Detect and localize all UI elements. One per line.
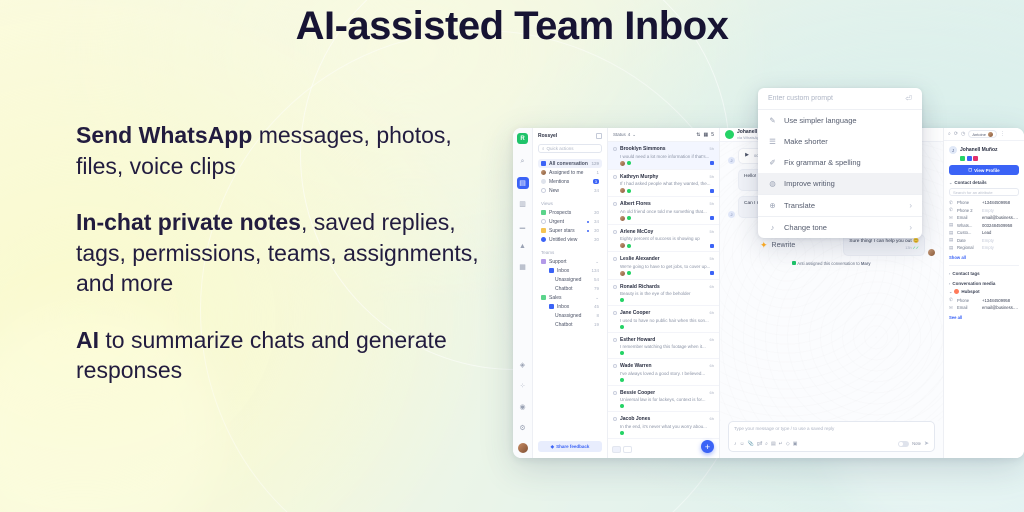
reports-icon[interactable]: ▁: [517, 219, 529, 231]
assigned-icon: [541, 170, 546, 175]
whatsapp-icon: [627, 244, 631, 248]
bot-icon: [792, 261, 796, 265]
calendar-icon: ▤: [949, 237, 954, 243]
sidebar-team-sales-chatbot[interactable]: Chatbot 19: [538, 320, 602, 329]
search-icon: ⌕: [542, 146, 545, 151]
attribute-key: Whats...: [957, 223, 979, 228]
sidebar-item-label: Mentions: [549, 179, 590, 185]
contact-panel: ⌕ ⟳ ◷ Antoine ⋮ J Johanell Muñoz ◻ View …: [944, 128, 1024, 458]
whatsapp-icon: [620, 378, 624, 382]
unread-dot: [587, 221, 589, 223]
conversation-footer: [620, 325, 714, 329]
attribute-key: Email: [957, 215, 979, 220]
contact-details-title[interactable]: ⌄ Contact details: [949, 180, 1019, 185]
enter-key-icon[interactable]: ⏎: [905, 94, 912, 103]
conversation-preview: If I had asked people what they wanted, …: [620, 181, 714, 186]
sidebar-item-count: 34: [594, 219, 599, 224]
contacts-icon[interactable]: ▥: [517, 198, 529, 210]
email-icon: ✉: [949, 305, 954, 311]
ai-menu-item-improve-writing[interactable]: ◍ Improve writing: [758, 173, 922, 194]
select-circle-icon[interactable]: [613, 285, 617, 289]
conversation-preview: We're going to have to get jobs, to cove…: [620, 264, 714, 269]
workspace-logo-icon[interactable]: R: [517, 133, 528, 144]
sidebar-item-label: Chatbot: [555, 286, 591, 292]
message-time: 13h: [905, 246, 911, 250]
sidebar-item-count: 54: [594, 277, 599, 282]
sales-icon: [541, 295, 546, 300]
sidebar-item-label: Untitled view: [549, 237, 591, 243]
conversation-footer: [620, 351, 714, 355]
conversation-preview: An old friend once told me something tha…: [620, 209, 714, 214]
attribute-value: Empty: [982, 208, 1019, 213]
ai-menu-item-fix-grammar-spelling[interactable]: ✐ Fix grammar & spelling: [758, 152, 922, 173]
conversation-item[interactable]: Leslie Alexander 5h We're going to have …: [608, 252, 719, 280]
sidebar-item-count: 79: [594, 286, 599, 291]
rewrite-button[interactable]: ✦ Rewrite: [760, 240, 795, 251]
contact-channel-icons: [960, 156, 1019, 161]
conversation-header: Albert Flores 5h: [613, 201, 714, 207]
file-icon[interactable]: ▤: [771, 441, 776, 447]
conversation-name: Leslie Alexander: [620, 256, 707, 262]
select-circle-icon[interactable]: [613, 417, 617, 421]
search-icon[interactable]: ⌕: [517, 156, 529, 168]
search-reply-icon[interactable]: ⌕: [765, 441, 768, 447]
conversation-header: Ronald Richards 6h: [613, 284, 714, 290]
conversation-item[interactable]: Kathryn Murphy 5h If I had asked people …: [608, 170, 719, 198]
icon-rail: R ⌕ ▤ ▥ ▁ ▲ ▦ ◈ ⁘ ◉ ⚙: [513, 128, 533, 458]
agent-avatar: [928, 249, 935, 256]
sidebar-item-label: Unassigned: [555, 313, 593, 319]
conversation-time: 5h: [710, 146, 714, 151]
quick-actions-input[interactable]: ⌕ Quick actions: [538, 144, 602, 153]
sidebar-team-sales-inbox[interactable]: Inbox 45: [538, 302, 602, 311]
unread-dot: [587, 230, 589, 232]
contact-avatar: [725, 130, 734, 139]
view-icon: [541, 237, 546, 242]
conversation-footer: [620, 188, 714, 193]
conversation-time: 6h: [710, 416, 714, 421]
whatsapp-icon: [620, 404, 624, 408]
whatsapp-icon: [620, 431, 624, 435]
select-circle-icon[interactable]: [613, 175, 617, 179]
select-circle-icon[interactable]: [613, 230, 617, 234]
conversation-name: Esther Howard: [620, 337, 707, 343]
workspace-name: Rossyel: [538, 133, 557, 139]
select-circle-icon[interactable]: [613, 147, 617, 151]
attribute-key: Phone 2: [957, 208, 979, 213]
inbox-icon: [549, 268, 554, 273]
chevron-right-icon: ›: [949, 271, 950, 276]
list-view-controls: [612, 446, 632, 453]
view-profile-label: View Profile: [974, 168, 999, 173]
conversation-footer: [620, 216, 714, 221]
inbox-icon[interactable]: ▤: [517, 177, 529, 189]
ai-menu-item-change-tone[interactable]: ♪ Change tone ›: [758, 217, 922, 238]
inbox-icon: [549, 304, 554, 309]
avatar: J: [728, 211, 735, 218]
feature-paragraph-3: AI to summarize chats and generate respo…: [76, 325, 496, 386]
conversation-name: Wade Warren: [620, 363, 707, 369]
feature-copy: Send WhatsApp messages, photos, files, v…: [76, 120, 496, 412]
conversation-item[interactable]: Ronald Richards 6h Beauty is in the eye …: [608, 280, 719, 307]
ai-menu-item-label: Translate: [784, 201, 815, 210]
sidebar-item-label: Prospects: [549, 210, 591, 216]
ai-menu-item-use-simpler-language[interactable]: ✎ Use simpler language: [758, 110, 922, 131]
note-toggle-label: Note: [912, 441, 921, 446]
conversation-item[interactable]: Esther Howard 6h I remember watching thi…: [608, 333, 719, 360]
sidebar-item-mentions[interactable]: Mentions 3: [538, 177, 602, 186]
custom-prompt-input[interactable]: Enter custom prompt ⏎: [758, 88, 922, 110]
sidebar-team-support-unassigned[interactable]: Unassigned 54: [538, 275, 602, 284]
sidebar-item-label: All conversations: [549, 161, 588, 167]
list-view-icon[interactable]: [623, 446, 632, 453]
contact-tags-section[interactable]: › Contact tags: [949, 271, 1019, 276]
chevron-right-icon: ›: [909, 223, 912, 232]
conversation-preview: Eighty percent of success is showing up: [620, 236, 714, 241]
conversation-time: 5h: [710, 201, 714, 206]
panel-toggle-icon[interactable]: [596, 133, 602, 139]
sidebar-item-count: 1: [596, 170, 599, 175]
feature-bold-1: Send WhatsApp: [76, 122, 252, 148]
ai-menu-item-make-shorter[interactable]: ☰ Make shorter: [758, 131, 922, 152]
ai-menu-item-label: Make shorter: [784, 137, 828, 146]
select-circle-icon[interactable]: [613, 257, 617, 261]
attribute-value: +13484509958: [982, 200, 1019, 205]
quick-actions-placeholder: Quick actions: [547, 146, 574, 151]
sparkle-icon: ✦: [760, 240, 768, 251]
show-all-button[interactable]: Show all: [949, 255, 1019, 260]
message-meta: 13h ✓✓: [849, 246, 919, 252]
gif-icon[interactable]: gif: [757, 441, 762, 447]
contact-attribute-regional[interactable]: ▤ Regional Empty: [949, 244, 1019, 252]
contact-tags-label: Contact tags: [952, 271, 979, 276]
calendar-icon: ▤: [949, 230, 954, 236]
sidebar-item-count: 45: [594, 304, 599, 309]
conversation-item[interactable]: Arlene McCoy 5h Eighty percent of succes…: [608, 225, 719, 253]
system-note-text: Anti assigned this conversation to: [797, 261, 861, 266]
conversation-header: Kathryn Murphy 5h: [613, 174, 714, 180]
conversation-header: Esther Howard 6h: [613, 337, 714, 343]
ai-menu-item-label: Fix grammar & spelling: [784, 158, 861, 167]
whatsapp-icon[interactable]: [960, 156, 965, 161]
avatar: [620, 243, 625, 248]
sidebar-item-count: 8: [596, 313, 599, 318]
lines-icon: ☰: [768, 137, 777, 146]
sidebar-item-count: 19: [594, 322, 599, 327]
conversation-list: Status 4 ⌄ ⇅ ▦ 5 Brooklyn Simmons 5h I w…: [608, 128, 720, 458]
attribute-value: +13484509958: [982, 298, 1019, 303]
contact-attribute-date[interactable]: ▤ Date Empty: [949, 237, 1019, 245]
rewrite-label: Rewrite: [772, 242, 796, 249]
conversation-name: Jane Cooper: [620, 310, 707, 316]
system-note-bold: Mary: [861, 261, 871, 266]
attribute-search-input[interactable]: Search for an attribute: [949, 188, 1019, 196]
unread-badge: [710, 189, 714, 193]
message-text: Sure thing! I can help you out 😊: [849, 239, 919, 244]
conversation-header: Wade Warren 6h: [613, 363, 714, 369]
attribute-key: Phone: [957, 200, 979, 205]
select-circle-icon[interactable]: [613, 202, 617, 206]
mic-icon[interactable]: ♪: [734, 441, 737, 447]
conversation-footer: [620, 271, 714, 276]
conversation-time: 5h: [710, 256, 714, 261]
attribute-value: email@business.com: [982, 215, 1019, 220]
see-all-button[interactable]: See all: [949, 315, 1019, 320]
conversation-footer: [620, 298, 714, 302]
sidebar-item-count: 134: [591, 268, 599, 273]
sidebar-team-support-inbox[interactable]: Inbox 134: [538, 266, 602, 275]
sidebar-team-label: Sales: [549, 295, 592, 301]
sidebar-item-super-stars[interactable]: Super stars 30: [538, 226, 602, 235]
message-composer[interactable]: Type your message or type / to use a sav…: [728, 421, 935, 452]
conversation-preview: I remember watching this footage when it…: [620, 344, 714, 349]
chevron-down-icon: ⌄: [949, 289, 952, 294]
refresh-icon[interactable]: ⟳: [954, 131, 958, 137]
system-note: Anti assigned this conversation to Mary: [728, 261, 935, 266]
sidebar-item-urgent[interactable]: Urgent 34: [538, 217, 602, 226]
ai-menu-item-label: Use simpler language: [784, 116, 857, 125]
sidebar-team-support-chatbot[interactable]: Chatbot 79: [538, 284, 602, 293]
assignee-name: Antoine: [972, 132, 986, 137]
attribute-value: Empty: [982, 238, 1019, 243]
apps-icon[interactable]: ▦: [517, 261, 529, 273]
conversation-item[interactable]: Brooklyn Simmons 5h I would need a lot m…: [608, 142, 719, 170]
views-section-title: Views: [541, 201, 602, 206]
campaigns-icon[interactable]: ▲: [517, 240, 529, 252]
sidebar-item-count: 30: [594, 210, 599, 215]
composer-placeholder: Type your message or type / to use a sav…: [734, 426, 929, 431]
send-icon[interactable]: ➤: [924, 440, 929, 447]
conversation-footer: [620, 431, 714, 435]
attribute-value: Empty: [982, 245, 1019, 250]
search-icon[interactable]: ⌕: [948, 131, 951, 137]
conversation-media-label: Conversation media: [952, 281, 995, 286]
conversation-name: Kathryn Murphy: [620, 174, 707, 180]
custom-prompt-placeholder: Enter custom prompt: [768, 95, 833, 102]
conversation-header: Brooklyn Simmons 5h: [613, 146, 714, 152]
select-circle-icon[interactable]: [613, 364, 617, 368]
more-icon[interactable]: ⋮: [1000, 131, 1005, 137]
select-circle-icon[interactable]: [613, 391, 617, 395]
conversation-name: Brooklyn Simmons: [620, 146, 707, 152]
hubspot-icon: [954, 289, 959, 294]
mentions-icon: [541, 179, 546, 184]
conversation-time: 6h: [710, 284, 714, 289]
share-feedback-button[interactable]: ◆ Share feedback: [538, 441, 602, 452]
attribute-key: Custo...: [957, 230, 979, 235]
status-filter[interactable]: Status 4 ⌄: [613, 132, 636, 138]
phone-icon: ✆: [949, 297, 954, 303]
conversation-preview: I've always loved a good story. I believ…: [620, 371, 714, 376]
sidebar-item-all-conversations[interactable]: All conversations 129: [538, 159, 602, 168]
contact-attribute-phone-2[interactable]: ✆ Phone 2 Empty: [949, 207, 1019, 215]
conversation-footer: [620, 243, 714, 248]
sidebar-item-count: 30: [594, 228, 599, 233]
contact-details-label: Contact details: [954, 180, 986, 185]
sidebar-item-prospects[interactable]: Prospects 30: [538, 208, 602, 217]
assignee-avatar: [988, 132, 993, 137]
conversation-item[interactable]: Bessie Cooper 6h Universal law is for la…: [608, 386, 719, 413]
urgent-icon: [541, 219, 546, 224]
hubspot-section[interactable]: ⌄ Hubspot: [949, 289, 1019, 294]
select-circle-icon[interactable]: [613, 338, 617, 342]
sidebar-item-label: Inbox: [557, 268, 588, 274]
conversation-item[interactable]: Jacob Jones 6h In the end, it's never wh…: [608, 412, 719, 439]
conversation-item[interactable]: Wade Warren 6h I've always loved a good …: [608, 359, 719, 386]
sidebar-team-support[interactable]: Support ⌄: [538, 257, 602, 266]
ai-menu-item-label: Improve writing: [784, 179, 835, 188]
history-icon[interactable]: ◷: [961, 131, 965, 137]
emoji-icon[interactable]: ☺: [740, 441, 745, 447]
ai-prompt-menu: Enter custom prompt ⏎ ✎ Use simpler lang…: [758, 88, 922, 238]
sidebar-item-badge: 3: [593, 179, 599, 184]
saved-reply-icon[interactable]: ↵: [779, 441, 783, 447]
attribute-value: email@business.com: [982, 305, 1019, 310]
sidebar-item-label: Urgent: [549, 219, 584, 225]
view-profile-button[interactable]: ◻ View Profile: [949, 165, 1019, 175]
hubspot-attribute-phone[interactable]: ✆ Phone +13484509958: [949, 297, 1019, 305]
conversation-preview: Universal law is for lackeys, context is…: [620, 397, 714, 402]
calendar-icon: ▤: [949, 222, 954, 228]
avatar: [620, 271, 625, 276]
feature-bold-3: AI: [76, 327, 99, 353]
conversation-preview: In the end, it's never what you worry ab…: [620, 424, 714, 429]
chevron-down-icon: ⌄: [949, 180, 952, 185]
conversation-time: 6h: [710, 363, 714, 368]
music-note-icon: ♪: [768, 223, 777, 232]
messenger-icon[interactable]: [967, 156, 972, 161]
new-icon: [541, 188, 546, 193]
attach-icon[interactable]: 📎: [748, 441, 754, 447]
conversation-preview: I would need a lot more information if t…: [620, 154, 714, 159]
phone-icon: ✆: [949, 207, 954, 213]
conversation-time: 5h: [710, 229, 714, 234]
conversation-footer: [620, 404, 714, 408]
sidebar-item-untitled-view[interactable]: Untitled view 30: [538, 235, 602, 244]
whatsapp-icon: [620, 298, 624, 302]
help-icon[interactable]: ◈: [517, 359, 529, 371]
phone-icon: ✆: [949, 200, 954, 206]
contact-attribute-email[interactable]: ✉ Email email@business.com: [949, 214, 1019, 222]
whatsapp-icon: [627, 161, 631, 165]
feature-bold-2: In-chat private notes: [76, 209, 301, 235]
chevron-down-icon[interactable]: ⌄: [595, 295, 599, 301]
pen-circle-icon: ◍: [768, 179, 777, 188]
conversation-header: Leslie Alexander 5h: [613, 256, 714, 262]
conversation-header: Arlene McCoy 5h: [613, 229, 714, 235]
sidebar-item-count: 129: [591, 161, 599, 166]
whatsapp-icon: [627, 189, 631, 193]
sidebar-team-sales-unassigned[interactable]: Unassigned 8: [538, 311, 602, 320]
user-avatar[interactable]: [518, 443, 528, 453]
magic-wand-icon: ✎: [768, 116, 777, 125]
attribute-key: Phone: [957, 298, 979, 303]
ai-menu-item-label: Change tone: [784, 223, 827, 232]
attribute-key: Email: [957, 305, 979, 310]
chevron-down-icon[interactable]: ⌄: [595, 259, 599, 265]
bug-icon[interactable]: ▦: [703, 132, 708, 138]
page-title: AI-assisted Team Inbox: [0, 4, 1024, 49]
assignee-pill[interactable]: Antoine: [968, 130, 997, 138]
instagram-icon[interactable]: [973, 156, 978, 161]
tag-icon[interactable]: ◇: [786, 441, 790, 447]
play-icon[interactable]: ▶: [744, 153, 750, 159]
sort-icon[interactable]: ⇅: [696, 132, 700, 138]
conversation-footer: [620, 378, 714, 382]
conversation-time: 6h: [710, 310, 714, 315]
contact-attribute-customer[interactable]: ▤ Custo... Lead: [949, 229, 1019, 237]
read-tick-icon: ✓✓: [913, 246, 919, 250]
email-icon: ✉: [949, 215, 954, 221]
sidebar-item-count: 30: [594, 237, 599, 242]
globe-icon: ⊕: [768, 201, 777, 210]
sidebar-item-label: Chatbot: [555, 322, 591, 328]
settings-icon[interactable]: ⚙: [517, 422, 529, 434]
feature-paragraph-1: Send WhatsApp messages, photos, files, v…: [76, 120, 496, 181]
contact-avatar: J: [949, 146, 957, 154]
avatar: J: [728, 157, 735, 164]
support-icon: [541, 259, 546, 264]
conversation-header: Jane Cooper 6h: [613, 310, 714, 316]
feature-paragraph-2: In-chat private notes, saved replies, ta…: [76, 207, 496, 299]
note-toggle[interactable]: [898, 441, 909, 447]
attribute-value: 0032484509958: [982, 223, 1019, 228]
prospects-icon: [541, 210, 546, 215]
star-icon: [541, 228, 546, 233]
conversation-name: Bessie Cooper: [620, 390, 707, 396]
integrations-icon[interactable]: ⁘: [517, 380, 529, 392]
attribute-key: Date: [957, 238, 979, 243]
workspace-row: Rossyel: [538, 133, 602, 139]
conversation-time: 5h: [710, 174, 714, 179]
conversation-item[interactable]: Jane Cooper 6h I used to have no public …: [608, 306, 719, 333]
notifications-icon[interactable]: ◉: [517, 401, 529, 413]
attribute-key: Regional: [957, 245, 979, 250]
ai-menu-item-translate[interactable]: ⊕ Translate ›: [758, 195, 922, 216]
unread-badge: [710, 271, 714, 275]
feature-rest-3: to summarize chats and generate response…: [76, 327, 447, 384]
image-icon[interactable]: ▣: [793, 441, 798, 447]
chevron-right-icon: ›: [909, 201, 912, 210]
conversation-media-section[interactable]: › Conversation media: [949, 281, 1019, 286]
hubspot-attribute-email[interactable]: ✉ Email email@business.com: [949, 304, 1019, 312]
split-view-icon[interactable]: [612, 446, 621, 453]
new-conversation-button[interactable]: +: [701, 440, 714, 453]
hubspot-label: Hubspot: [961, 289, 979, 294]
sidebar-item-new[interactable]: New 34: [538, 186, 602, 195]
sidebar-item-count: 34: [594, 188, 599, 193]
conversation-header: Bessie Cooper 6h: [613, 390, 714, 396]
select-circle-icon[interactable]: [613, 311, 617, 315]
sidebar-item-assigned-to-me[interactable]: Assigned to me 1: [538, 168, 602, 177]
whatsapp-icon: [620, 325, 624, 329]
chevron-right-icon: ›: [949, 281, 950, 286]
conversation-time: 6h: [710, 390, 714, 395]
contact-name-row: J Johanell Muñoz: [949, 146, 1019, 154]
share-feedback-label: Share feedback: [556, 444, 589, 449]
attribute-value: Lead: [982, 230, 1019, 235]
conversation-time: 6h: [710, 337, 714, 342]
sidebar-item-label: Super stars: [549, 228, 584, 234]
contact-attribute-whatsapp[interactable]: ▤ Whats... 0032484509958: [949, 222, 1019, 230]
contact-attribute-phone[interactable]: ✆ Phone +13484509958: [949, 199, 1019, 207]
conversation-item[interactable]: Albert Flores 5h An old friend once told…: [608, 197, 719, 225]
unread-badge: [710, 161, 714, 165]
sidebar-team-sales[interactable]: Sales ⌄: [538, 293, 602, 302]
conversation-name: Arlene McCoy: [620, 229, 707, 235]
sidebar-item-label: Unassigned: [555, 277, 591, 283]
all-conversations-icon: [541, 161, 546, 166]
